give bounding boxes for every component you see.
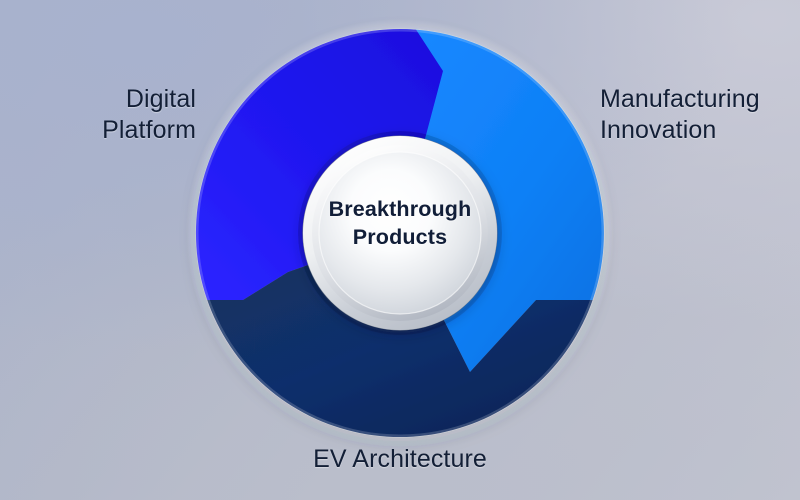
segment-label-ev-architecture[interactable]: EV Architecture [0,444,800,475]
segment-label-digital-platform[interactable]: Digital Platform [102,84,196,145]
center-hub[interactable] [303,136,497,330]
segment-label-manufacturing-innovation[interactable]: Manufacturing Innovation [600,84,760,145]
cycle-donut-diagram [0,0,800,500]
center-hub-face [319,152,481,314]
diagram-canvas: Digital Platform Manufacturing Innovatio… [0,0,800,500]
